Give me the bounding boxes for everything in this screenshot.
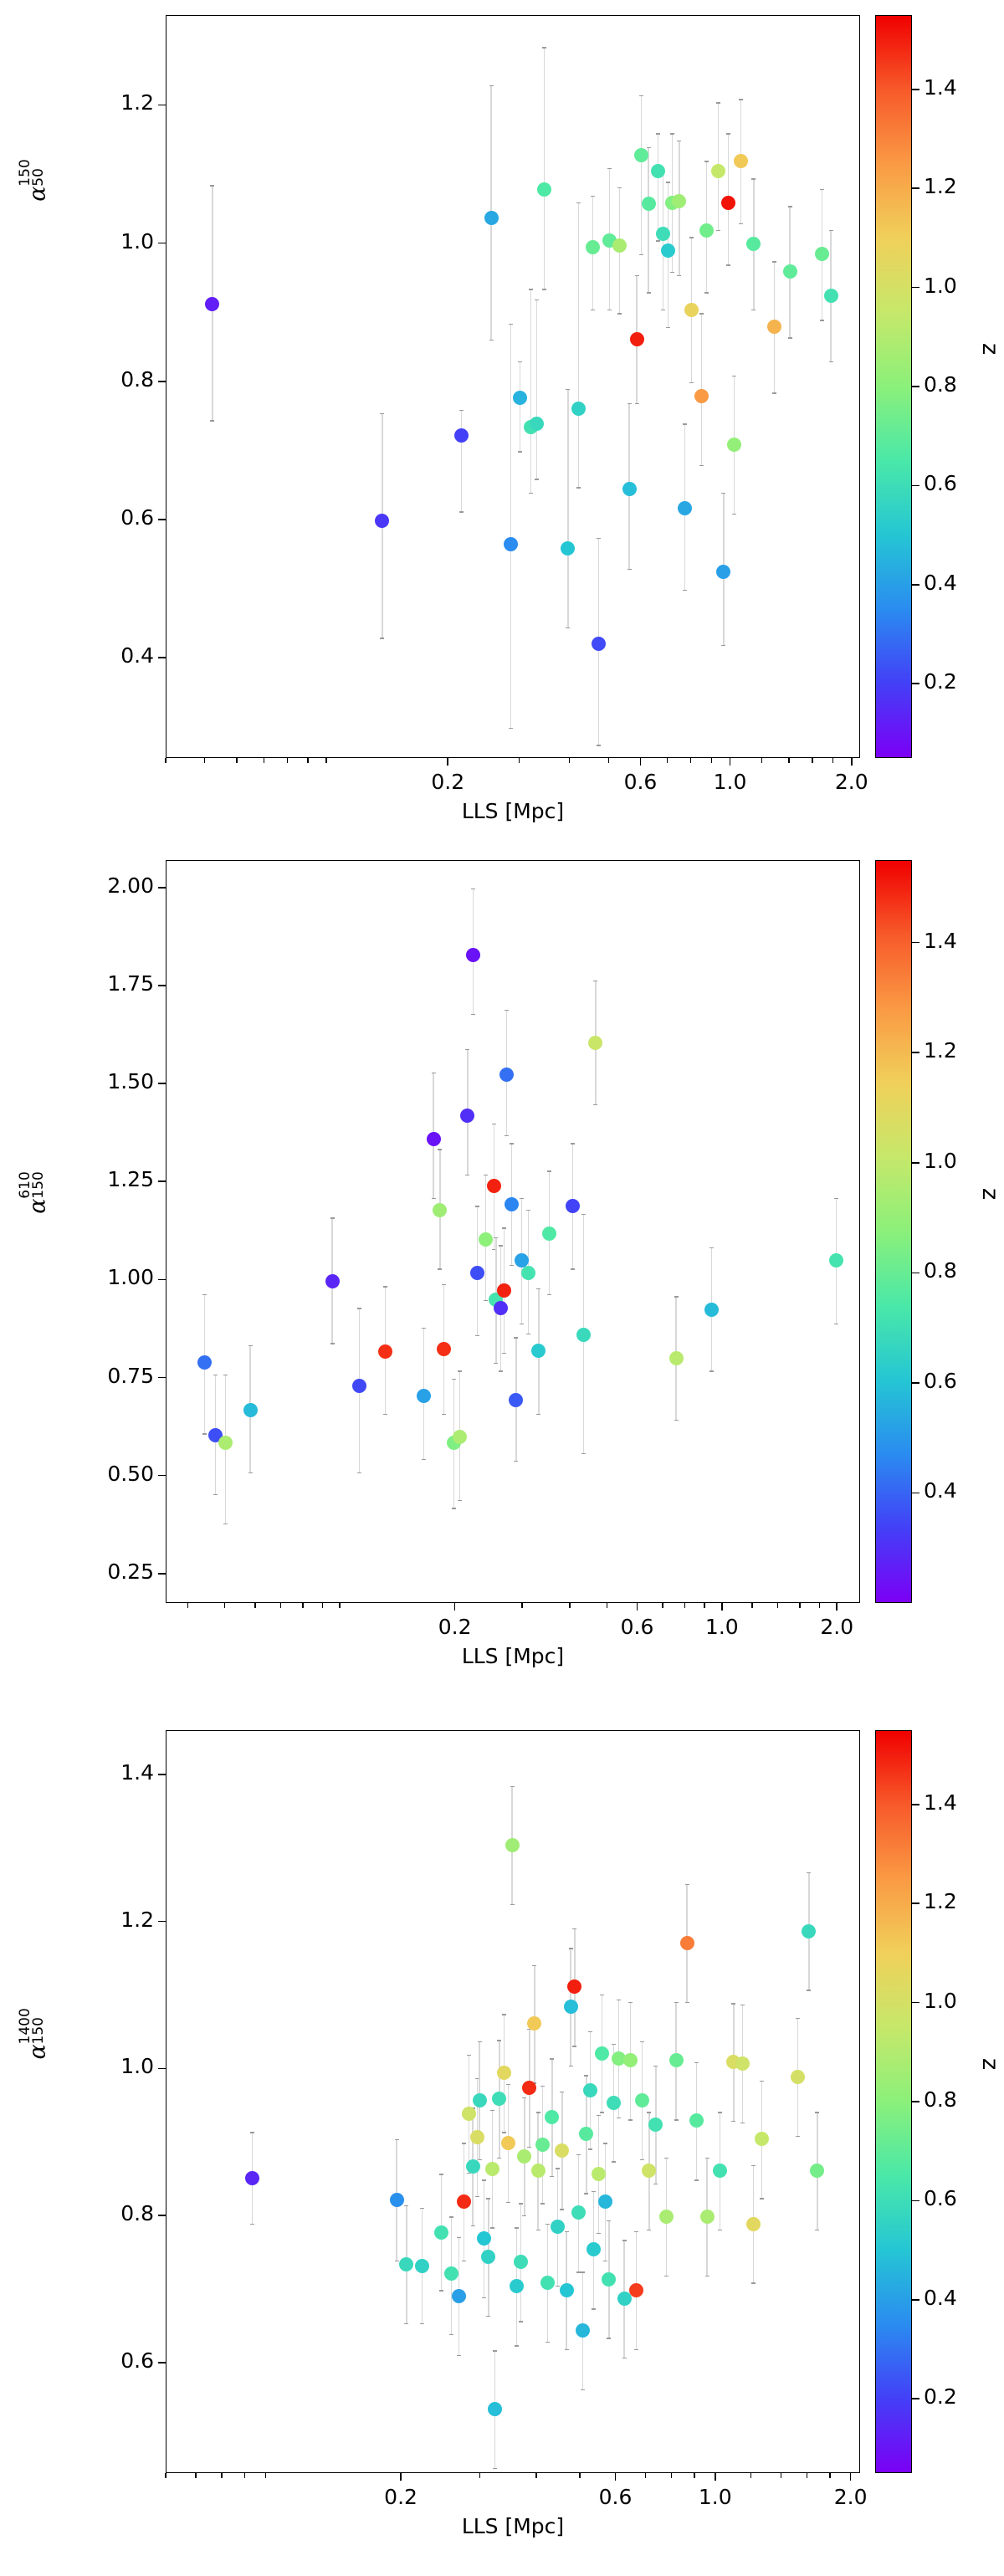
data-point xyxy=(678,501,692,515)
x-minor-tick-mark xyxy=(607,1603,607,1608)
data-point xyxy=(537,182,551,197)
error-bar-cap xyxy=(330,1343,335,1344)
error-bar-cap xyxy=(685,1884,689,1885)
error-bar-cap xyxy=(542,289,546,289)
colorbar-tick-mark xyxy=(912,1273,919,1274)
error-bar-cap xyxy=(751,178,756,179)
error-bar-cap xyxy=(588,2031,592,2032)
x-minor-tick-mark xyxy=(799,1603,800,1608)
error-bar-cap xyxy=(731,2003,735,2004)
error-bar-cap xyxy=(677,275,681,276)
data-point xyxy=(635,2093,649,2107)
error-bar-cap xyxy=(704,161,709,161)
data-point xyxy=(505,1197,519,1211)
error-bar-cap xyxy=(739,99,743,100)
error-bar-cap xyxy=(514,1337,518,1338)
error-bar-cap xyxy=(721,493,725,494)
data-point xyxy=(497,2066,511,2080)
error-bar-cap xyxy=(492,1124,496,1124)
data-point xyxy=(669,2053,684,2067)
colorbar-tick-label: 0.6 xyxy=(924,471,957,495)
x-minor-tick-mark xyxy=(224,1603,225,1608)
colorbar-axis-label: z xyxy=(977,1188,1003,1200)
error-bar-cap xyxy=(486,2198,490,2199)
error-bar-cap xyxy=(499,1370,503,1371)
error-bar-cap xyxy=(699,313,704,314)
error-bar-cap xyxy=(210,185,214,186)
colorbar-tick-label: 0.8 xyxy=(924,2087,957,2112)
error-bar-cap xyxy=(250,2224,254,2225)
error-bar-cap xyxy=(471,2225,475,2226)
error-bar-cap xyxy=(467,2055,471,2056)
error-bar-cap xyxy=(535,300,539,300)
alpha-symbol: α xyxy=(25,1198,51,1213)
data-point xyxy=(634,148,648,162)
error-bar-cap xyxy=(591,196,595,197)
panel-alpha-150-610: α610150 LLS [Mpc] z 0.250.500.751.001.25… xyxy=(0,837,1004,1707)
error-bar-cap xyxy=(518,451,522,452)
error-bar-cap xyxy=(502,1353,506,1354)
colorbar-tick-label: 1.2 xyxy=(924,1889,957,1913)
error-bar-cap xyxy=(489,85,494,86)
error-bar-cap xyxy=(536,1414,540,1415)
error-bar-cap xyxy=(647,2230,651,2230)
error-bar xyxy=(567,389,568,627)
colorbar-tick-label: 0.2 xyxy=(924,669,957,694)
colorbar-tick-label: 1.4 xyxy=(924,929,957,953)
error-bar-cap xyxy=(560,2092,564,2092)
data-point xyxy=(602,2272,616,2287)
y-tick-label: 0.25 xyxy=(7,1559,154,1584)
y-tick-mark xyxy=(158,1921,166,1923)
error-bar-cap xyxy=(546,2224,550,2225)
x-tick-label: 0.2 xyxy=(351,2485,451,2509)
error-bar-cap xyxy=(740,2123,745,2123)
error-bar-cap xyxy=(571,1143,575,1144)
x-tick-mark xyxy=(715,2473,716,2481)
error-bar-cap xyxy=(569,1948,573,1949)
x-tick-label: 2.0 xyxy=(801,2485,901,2509)
data-point xyxy=(560,2283,574,2297)
colorbar-tick-label: 0.6 xyxy=(924,2186,957,2210)
error-bar-cap xyxy=(484,1300,488,1301)
x-minor-tick-mark xyxy=(807,2473,807,2478)
error-bar-cap xyxy=(542,47,546,48)
data-point xyxy=(535,2138,550,2152)
alpha-indices: 15050 xyxy=(18,159,45,186)
x-minor-tick-mark xyxy=(569,758,570,763)
x-tick-label: 0.2 xyxy=(397,770,498,794)
x-minor-tick-mark xyxy=(204,758,205,763)
error-bar-cap xyxy=(820,320,824,320)
error-bar-cap xyxy=(540,2086,545,2087)
x-tick-label: 1.0 xyxy=(665,2485,766,2509)
colorbar-tick-label: 1.4 xyxy=(924,75,957,100)
data-point xyxy=(571,402,586,416)
error-bar-cap xyxy=(439,2290,443,2291)
y-tick-mark xyxy=(158,2215,166,2216)
error-bar-cap xyxy=(834,1198,838,1199)
data-point xyxy=(375,514,389,528)
error-bar xyxy=(520,361,520,451)
error-bar-cap xyxy=(634,2231,638,2232)
error-bar-cap xyxy=(536,1288,540,1289)
x-minor-tick-mark xyxy=(829,2473,830,2478)
error-bar-cap xyxy=(617,2118,621,2118)
error-bar-cap xyxy=(829,361,833,362)
data-point xyxy=(521,1266,535,1280)
error-bar-cap xyxy=(547,1170,551,1171)
error-bar-cap xyxy=(674,1296,679,1297)
x-minor-tick-mark xyxy=(287,758,288,763)
colorbar-tick-label: 0.4 xyxy=(924,2286,957,2310)
error-bar-cap xyxy=(449,2334,453,2335)
error-bar-cap xyxy=(459,511,464,512)
x-minor-tick-mark xyxy=(302,1603,303,1608)
x-tick-mark xyxy=(640,758,642,766)
colorbar-tick-mark xyxy=(912,683,919,684)
error-bar-cap xyxy=(597,2115,601,2116)
error-bar-cap xyxy=(726,133,730,134)
y-tick-label: 1.0 xyxy=(7,2054,154,2078)
y-tick-label: 0.8 xyxy=(7,2201,154,2225)
error-bar-cap xyxy=(509,728,513,729)
error-bar-cap xyxy=(683,423,687,424)
data-point xyxy=(527,2016,541,2031)
error-bar-cap xyxy=(442,1284,446,1285)
y-tick-label: 0.6 xyxy=(7,505,154,530)
error-bar-cap xyxy=(494,1363,498,1364)
error-bar-cap xyxy=(457,2237,461,2238)
data-point xyxy=(427,1132,441,1146)
error-bar-cap xyxy=(515,2345,519,2346)
x-minor-tick-mark xyxy=(750,2473,751,2478)
error-bar-cap xyxy=(740,2005,745,2005)
error-bar-cap xyxy=(572,1928,576,1929)
y-tick-mark xyxy=(158,1774,166,1775)
colorbar-tick-mark xyxy=(912,1052,919,1053)
data-point xyxy=(487,1179,501,1193)
data-point xyxy=(494,1301,508,1315)
error-bar-cap xyxy=(432,1198,436,1199)
error-bar-cap xyxy=(815,2112,819,2113)
data-point xyxy=(517,2149,531,2164)
error-bar-cap xyxy=(612,2161,616,2162)
error-bar-cap xyxy=(540,2203,545,2204)
error-bar-cap xyxy=(683,590,687,591)
y-tick-mark xyxy=(158,1475,166,1477)
error-bar-cap xyxy=(471,1014,475,1015)
alpha-subscript: 150 xyxy=(32,2008,45,2044)
x-minor-tick-mark xyxy=(236,758,237,763)
error-bar-cap xyxy=(202,1433,207,1434)
error-bar-cap xyxy=(820,189,824,190)
data-point xyxy=(488,2402,502,2416)
error-bar-cap xyxy=(760,2081,764,2082)
error-bar-cap xyxy=(656,240,660,241)
x-minor-tick-mark xyxy=(244,2473,245,2478)
data-point xyxy=(661,243,675,258)
y-tick-mark xyxy=(158,2068,166,2070)
data-point xyxy=(417,1389,431,1403)
data-point xyxy=(481,2250,495,2264)
data-point xyxy=(815,247,829,261)
x-minor-tick-mark xyxy=(339,1603,340,1608)
error-bar-cap xyxy=(490,2110,494,2111)
error-bar-cap xyxy=(475,1335,479,1336)
data-point xyxy=(466,2159,480,2174)
y-tick-mark xyxy=(158,1180,166,1182)
error-bar-cap xyxy=(751,310,756,310)
error-bar-cap xyxy=(383,1414,387,1415)
error-bar-cap xyxy=(213,1494,218,1495)
data-point xyxy=(504,537,518,551)
error-bar xyxy=(544,47,545,289)
error-bar-cap xyxy=(210,420,214,421)
data-point xyxy=(484,211,499,225)
panel-alpha-50-150: α15050 LLS [Mpc] z 0.40.60.81.01.20.20.6… xyxy=(0,0,1004,837)
error-bar-cap xyxy=(536,2230,540,2230)
data-point xyxy=(444,2266,458,2281)
error-bar-cap xyxy=(536,2112,540,2113)
error-bar-cap xyxy=(677,141,681,141)
error-bar-cap xyxy=(547,1294,551,1295)
y-tick-label: 1.4 xyxy=(7,1760,154,1785)
error-bar-cap xyxy=(560,2209,564,2210)
error-bar-cap xyxy=(622,2358,627,2358)
y-tick-mark xyxy=(158,985,166,986)
error-bar-cap xyxy=(526,1334,530,1334)
x-minor-tick-mark xyxy=(690,758,691,763)
data-point xyxy=(598,2194,612,2209)
error-bar-cap xyxy=(731,2121,735,2122)
error-bar-cap xyxy=(569,2066,573,2066)
error-bar-cap xyxy=(458,1370,462,1371)
plot-area-panel3 xyxy=(166,1730,860,2473)
error-bar-cap xyxy=(584,2075,588,2076)
colorbar-tick-mark xyxy=(912,287,919,289)
data-point xyxy=(513,391,527,405)
error-bar-cap xyxy=(499,1245,503,1246)
error-bar-cap xyxy=(526,1210,530,1211)
error-bar-cap xyxy=(699,465,704,466)
data-point xyxy=(470,1266,484,1280)
data-point xyxy=(453,1430,467,1444)
data-point xyxy=(699,223,714,238)
error-bar-cap xyxy=(395,2139,399,2140)
colorbar-axis-label: z xyxy=(977,343,1003,355)
error-bar-cap xyxy=(520,1198,524,1199)
colorbar-tick-mark xyxy=(912,89,919,90)
x-tick-label: 0.2 xyxy=(405,1615,505,1639)
x-minor-tick-mark xyxy=(850,2473,851,2478)
error-bar-cap xyxy=(751,2282,756,2283)
error-bar-cap xyxy=(556,2168,560,2169)
data-point xyxy=(810,2164,824,2178)
error-bar-cap xyxy=(452,1379,456,1380)
x-minor-tick-mark xyxy=(837,1603,838,1608)
error-bar-cap xyxy=(576,202,581,203)
y-tick-label: 1.50 xyxy=(7,1069,154,1093)
colorbar-panel2 xyxy=(875,860,912,1603)
data-point xyxy=(755,2132,769,2146)
error-bar-cap xyxy=(653,2184,658,2184)
error-bar-cap xyxy=(674,1420,679,1421)
data-point xyxy=(576,2323,590,2338)
error-bar-cap xyxy=(685,2002,689,2003)
error-bar-cap xyxy=(380,413,384,414)
data-point xyxy=(642,197,656,211)
error-bar-cap xyxy=(716,230,720,231)
x-tick-label: 1.0 xyxy=(680,770,781,794)
error-bar-cap xyxy=(493,2468,497,2469)
error-bar-cap xyxy=(617,313,622,314)
x-minor-tick-mark xyxy=(307,758,308,763)
x-minor-tick-mark xyxy=(195,2473,196,2478)
data-point xyxy=(378,1344,392,1359)
error-bar-cap xyxy=(721,645,725,646)
alpha-symbol: α xyxy=(25,186,51,201)
x-tick-mark xyxy=(454,1603,456,1611)
data-point xyxy=(530,417,544,431)
error-bar-cap xyxy=(597,2233,601,2234)
x-minor-tick-mark xyxy=(645,2473,646,2478)
colorbar-tick-mark xyxy=(912,584,919,586)
error-bar-cap xyxy=(493,2350,497,2351)
x-tick-mark xyxy=(721,1603,723,1611)
colorbar-tick-mark xyxy=(912,1493,919,1494)
error-bar-cap xyxy=(484,1175,488,1175)
error-bar-cap xyxy=(510,1265,514,1266)
colorbar-tick-mark xyxy=(912,187,919,189)
error-bar-cap xyxy=(581,1214,586,1215)
data-point xyxy=(672,194,686,208)
data-point xyxy=(700,2210,715,2224)
error-bar-cap xyxy=(664,2158,668,2159)
data-point xyxy=(576,1328,591,1342)
error-bar-cap xyxy=(572,2046,576,2046)
x-minor-tick-mark xyxy=(265,2473,266,2478)
colorbar-tick-mark xyxy=(912,2002,919,2004)
error-bar-cap xyxy=(465,1175,469,1175)
x-minor-tick-mark xyxy=(662,1603,663,1608)
error-bar-cap xyxy=(465,1049,469,1050)
data-point xyxy=(551,2220,565,2234)
data-point xyxy=(727,438,741,452)
colorbar-tick-mark xyxy=(912,1804,919,1805)
error-bar-cap xyxy=(520,1324,524,1324)
colorbar-axis-label: z xyxy=(977,2058,1003,2070)
y-tick-mark xyxy=(158,105,166,106)
x-minor-tick-mark xyxy=(777,1603,778,1608)
data-point xyxy=(566,1199,580,1213)
error-bar-cap xyxy=(556,2286,560,2287)
y-tick-mark xyxy=(158,1377,166,1379)
error-bar-cap xyxy=(482,2179,486,2180)
error-bar-cap xyxy=(628,2002,633,2003)
error-bar-cap xyxy=(357,1308,361,1308)
x-minor-tick-mark xyxy=(851,758,852,763)
error-bar-cap xyxy=(694,2179,699,2180)
error-bar-cap xyxy=(592,2308,596,2309)
error-bar-cap xyxy=(628,2119,633,2120)
error-bar-cap xyxy=(565,2349,569,2350)
error-bar-cap xyxy=(462,2143,466,2143)
y-tick-label: 0.8 xyxy=(7,367,154,392)
data-point xyxy=(399,2257,413,2271)
data-point xyxy=(829,1253,843,1268)
data-point xyxy=(542,1227,556,1241)
error-bar xyxy=(648,147,648,292)
error-bar-cap xyxy=(705,2276,709,2276)
x-tick-label: 0.6 xyxy=(590,770,690,794)
data-point xyxy=(617,2292,632,2306)
x-tick-mark xyxy=(447,758,448,766)
data-point xyxy=(689,2113,704,2128)
error-bar-cap xyxy=(519,2321,523,2322)
error-bar xyxy=(536,300,537,479)
x-minor-tick-mark xyxy=(608,758,609,763)
data-point xyxy=(783,264,797,279)
colorbar-tick-label: 0.4 xyxy=(924,571,957,595)
error-bar-cap xyxy=(502,2014,506,2015)
colorbar-tick-mark xyxy=(912,942,919,944)
error-bar xyxy=(658,133,658,240)
colorbar-tick-label: 0.8 xyxy=(924,1258,957,1283)
error-bar-cap xyxy=(404,2323,408,2324)
data-point xyxy=(205,297,219,311)
data-point xyxy=(510,2279,524,2293)
data-point xyxy=(390,2193,404,2207)
x-minor-tick-mark xyxy=(535,2473,536,2478)
data-point xyxy=(497,1283,511,1298)
error-bar-cap xyxy=(532,1965,536,1966)
error-bar-cap xyxy=(471,889,475,889)
error-bar-cap xyxy=(718,2112,722,2113)
error-bar-cap xyxy=(505,1135,509,1136)
data-point xyxy=(501,2136,515,2150)
error-bar-cap xyxy=(527,2147,531,2148)
error-bar-cap xyxy=(202,1294,207,1295)
error-bar-cap xyxy=(357,1472,361,1473)
error-bar xyxy=(578,202,579,487)
data-point xyxy=(245,2171,259,2185)
y-tick-mark xyxy=(158,519,166,520)
error-bar-cap xyxy=(486,2316,490,2317)
data-point xyxy=(352,1379,366,1393)
data-point xyxy=(588,1036,602,1050)
error-bar-cap xyxy=(380,638,384,638)
error-bar-cap xyxy=(772,392,776,393)
error-bar-cap xyxy=(829,230,833,231)
colorbar-tick-mark xyxy=(912,2398,919,2399)
data-point xyxy=(711,164,725,178)
error-bar xyxy=(461,410,462,511)
data-point xyxy=(694,389,709,403)
y-tick-label: 1.00 xyxy=(7,1265,154,1289)
x-minor-tick-mark xyxy=(165,2473,166,2478)
data-point xyxy=(545,2110,559,2124)
error-bar-cap xyxy=(223,1524,228,1524)
error-bar-cap xyxy=(457,2355,461,2356)
data-point xyxy=(531,2164,546,2178)
x-minor-tick-mark xyxy=(165,758,166,763)
y-tick-mark xyxy=(158,657,166,658)
data-point xyxy=(564,2000,578,2014)
data-point xyxy=(746,2217,761,2231)
x-axis-label: LLS [Mpc] xyxy=(166,2514,860,2538)
error-bar-cap xyxy=(674,2002,679,2003)
